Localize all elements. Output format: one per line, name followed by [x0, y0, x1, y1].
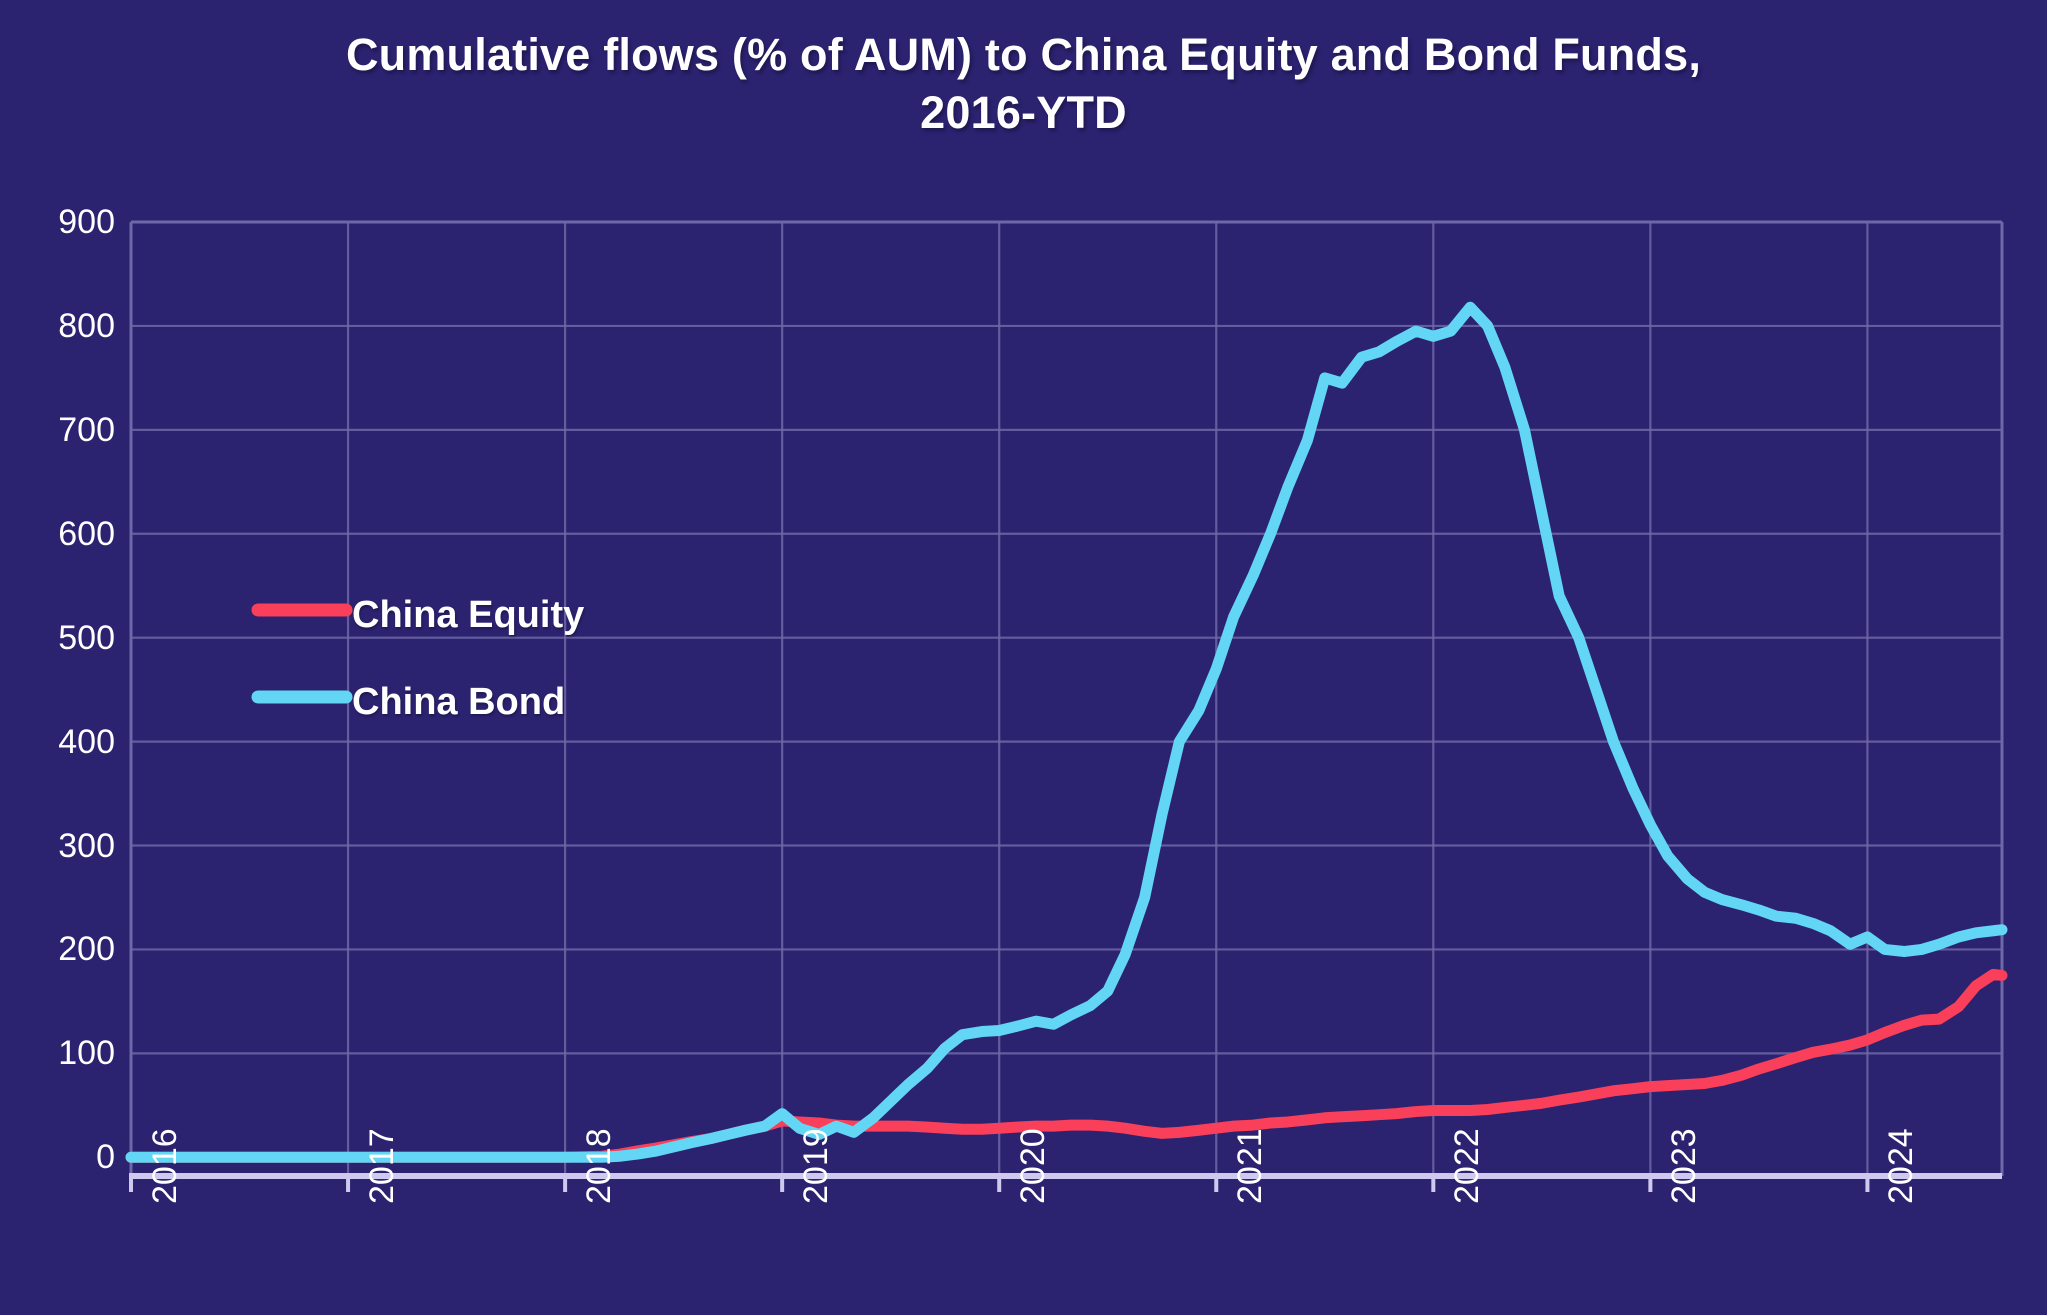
x-tick-label-2016: 2016: [148, 1128, 182, 1204]
y-tick-label-500: 500: [5, 621, 115, 655]
x-tick-label-2019: 2019: [799, 1128, 833, 1204]
legend-label-china-equity: China Equity: [352, 596, 584, 634]
y-tick-label-0: 0: [5, 1140, 115, 1174]
x-tick-label-2017: 2017: [365, 1128, 399, 1204]
y-tick-label-600: 600: [5, 517, 115, 551]
legend-label-china-bond: China Bond: [352, 683, 565, 721]
x-tick-label-2024: 2024: [1884, 1128, 1918, 1204]
y-tick-label-300: 300: [5, 829, 115, 863]
y-tick-label-400: 400: [5, 725, 115, 759]
x-tick-label-2021: 2021: [1233, 1128, 1267, 1204]
y-tick-label-100: 100: [5, 1036, 115, 1070]
y-tick-label-200: 200: [5, 932, 115, 966]
x-tick-label-2020: 2020: [1016, 1128, 1050, 1204]
y-tick-label-900: 900: [5, 205, 115, 239]
series-line-0: [131, 974, 2002, 1157]
y-tick-label-700: 700: [5, 413, 115, 447]
x-tick-label-2022: 2022: [1450, 1128, 1484, 1204]
chart-figure: Cumulative flows (% of AUM) to China Equ…: [0, 0, 2047, 1315]
x-tick-label-2018: 2018: [582, 1128, 616, 1204]
x-tick-label-2023: 2023: [1667, 1128, 1701, 1204]
y-tick-label-800: 800: [5, 309, 115, 343]
